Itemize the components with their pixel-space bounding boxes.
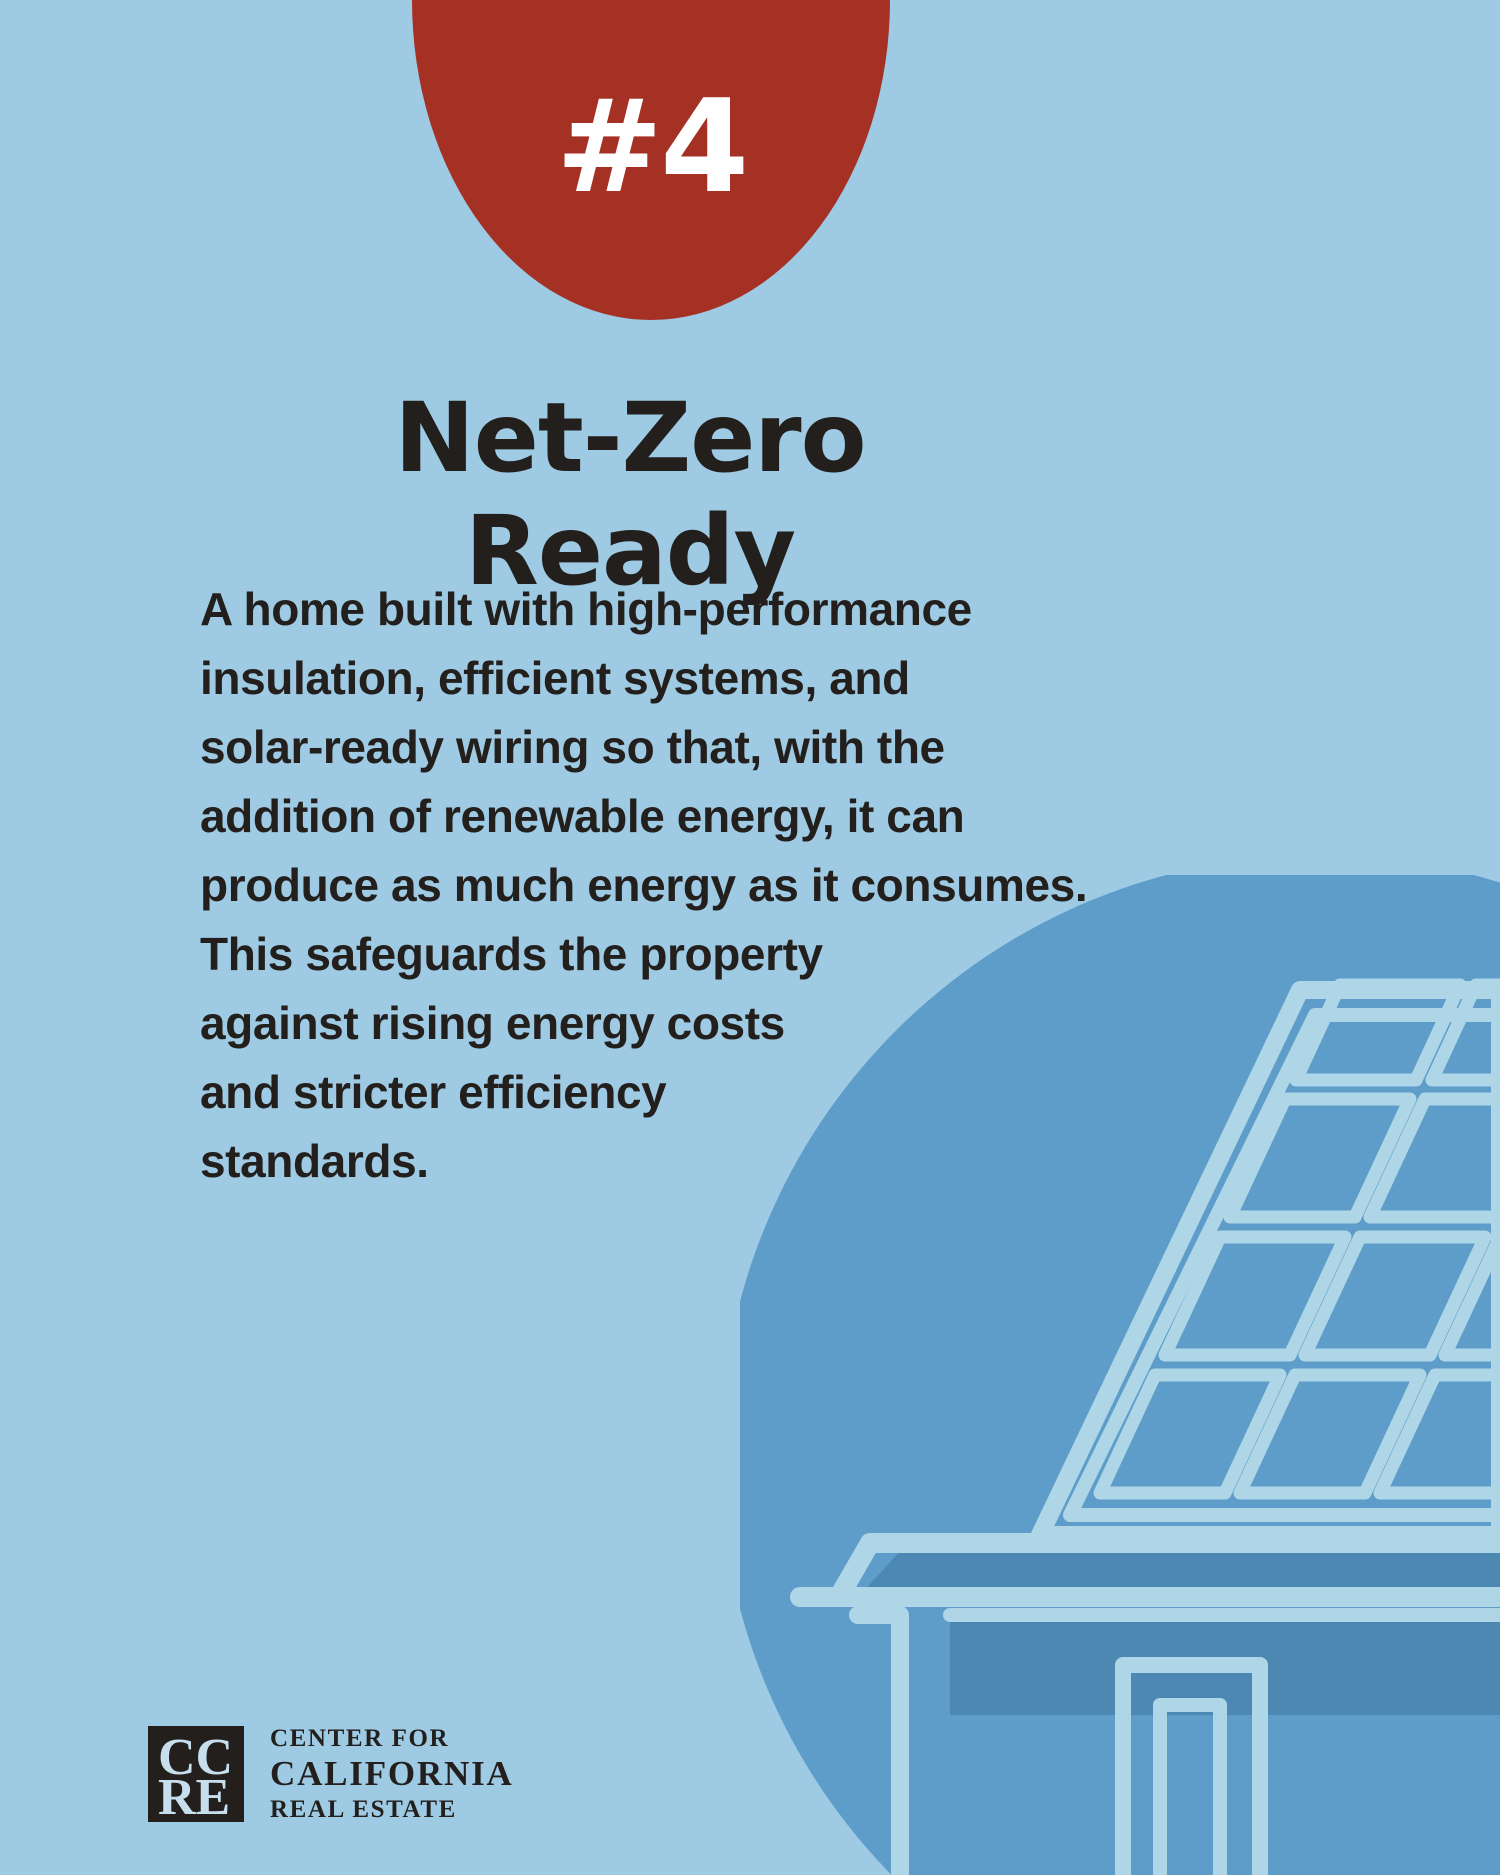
page-title-line-1: Net-Zero [0,382,1260,494]
ccre-logo: CC RE CENTER FOR CALIFORNIA REAL ESTATE [148,1726,514,1822]
wordmark-line-3: REAL ESTATE [270,1797,514,1822]
body-line-1: A home built with high-performance [200,575,1100,644]
number-badge-inner: #4 [412,84,890,212]
wordmark-line-2: CALIFORNIA [270,1756,514,1791]
body-line-6: This safeguards the property [200,920,1100,989]
body-line-8: and stricter efficiency [200,1058,1100,1127]
badge-number: #4 [556,84,746,212]
body-line-4: addition of renewable energy, it can [200,782,1100,851]
page-title: Net-Zero Ready [0,382,1260,607]
number-badge: #4 [412,0,890,320]
poster-canvas: #4 Net-Zero Ready A home built with high… [0,0,1500,1875]
monogram-re: RE [158,1769,230,1822]
body-line-3: solar-ready wiring so that, with the [200,713,1100,782]
body-line-9: standards. [200,1127,1100,1196]
body-paragraph: A home built with high-performance insul… [200,575,1100,1196]
body-line-2: insulation, efficient systems, and [200,644,1100,713]
wordmark-line-1: CENTER FOR [270,1726,514,1751]
body-line-5: produce as much energy as it consumes. [200,851,1100,920]
ccre-monogram-icon: CC RE [148,1726,244,1822]
ccre-wordmark: CENTER FOR CALIFORNIA REAL ESTATE [270,1726,514,1822]
body-line-7: against rising energy costs [200,989,1100,1058]
